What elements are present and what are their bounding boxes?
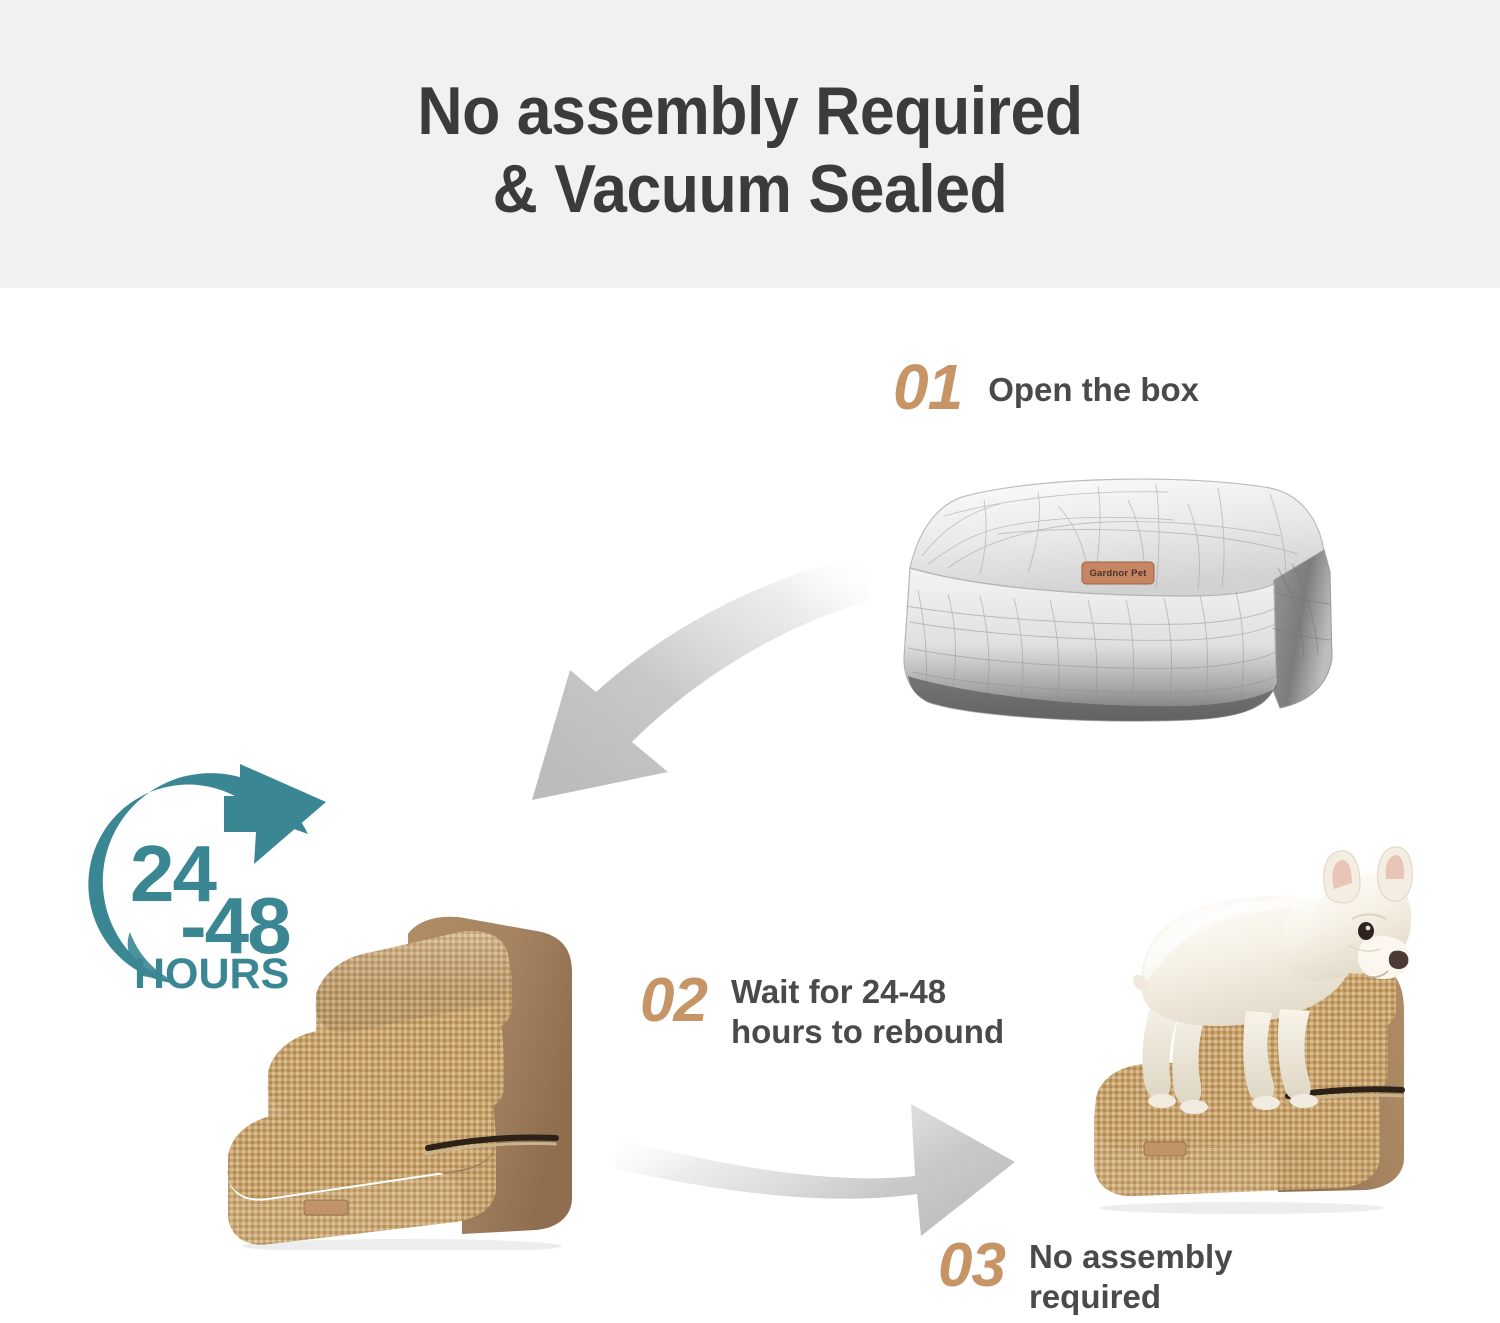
step-02-caption: Wait for 24-48 hours to rebound bbox=[731, 970, 1004, 1052]
step-03: 03 No assembly required bbox=[938, 1235, 1233, 1317]
dog-paw-3 bbox=[1252, 1096, 1280, 1110]
step-03-number: 03 bbox=[938, 1235, 1005, 1297]
step-01: 01 Open the box bbox=[893, 356, 1199, 418]
pet-stairs-left bbox=[212, 898, 632, 1250]
infographic-page: No assembly Required & Vacuum Sealed 01 … bbox=[0, 0, 1500, 1323]
package-brand-label-text: Gardnor Pet bbox=[1082, 562, 1154, 584]
vacuum-sealed-package: Gardnor Pet bbox=[888, 472, 1340, 724]
dog-front-leg-near bbox=[1278, 1009, 1311, 1101]
dog-eye bbox=[1358, 922, 1374, 940]
dog-nose bbox=[1389, 951, 1409, 969]
step-01-number: 01 bbox=[893, 356, 962, 418]
page-title-line-1: No assembly Required bbox=[417, 73, 1082, 149]
dog-paw-2 bbox=[1180, 1100, 1208, 1114]
dog-front-leg-far bbox=[1243, 1011, 1274, 1103]
stairs-right-shadow bbox=[1100, 1202, 1384, 1214]
dog-paw-4 bbox=[1290, 1094, 1318, 1108]
arrow-2-shape bbox=[615, 1104, 1015, 1236]
arrow-1-shape bbox=[532, 560, 870, 800]
step-02: 02 Wait for 24-48 hours to rebound bbox=[640, 970, 1004, 1052]
arrow-stairs-to-dog-icon bbox=[615, 1070, 1015, 1240]
french-bulldog bbox=[1096, 845, 1416, 1145]
dog-eye-glint bbox=[1366, 926, 1371, 931]
step-03-caption: No assembly required bbox=[1029, 1235, 1233, 1317]
step-02-number: 02 bbox=[640, 970, 707, 1032]
page-title-line-2: & Vacuum Sealed bbox=[60, 150, 1440, 228]
page-title: No assembly Required & Vacuum Sealed bbox=[60, 72, 1440, 228]
dog-paw-1 bbox=[1148, 1094, 1176, 1108]
step-01-caption: Open the box bbox=[988, 356, 1199, 410]
arrow-box-to-stairs-icon bbox=[420, 560, 870, 820]
stairs-left-brand-tag bbox=[304, 1200, 348, 1215]
